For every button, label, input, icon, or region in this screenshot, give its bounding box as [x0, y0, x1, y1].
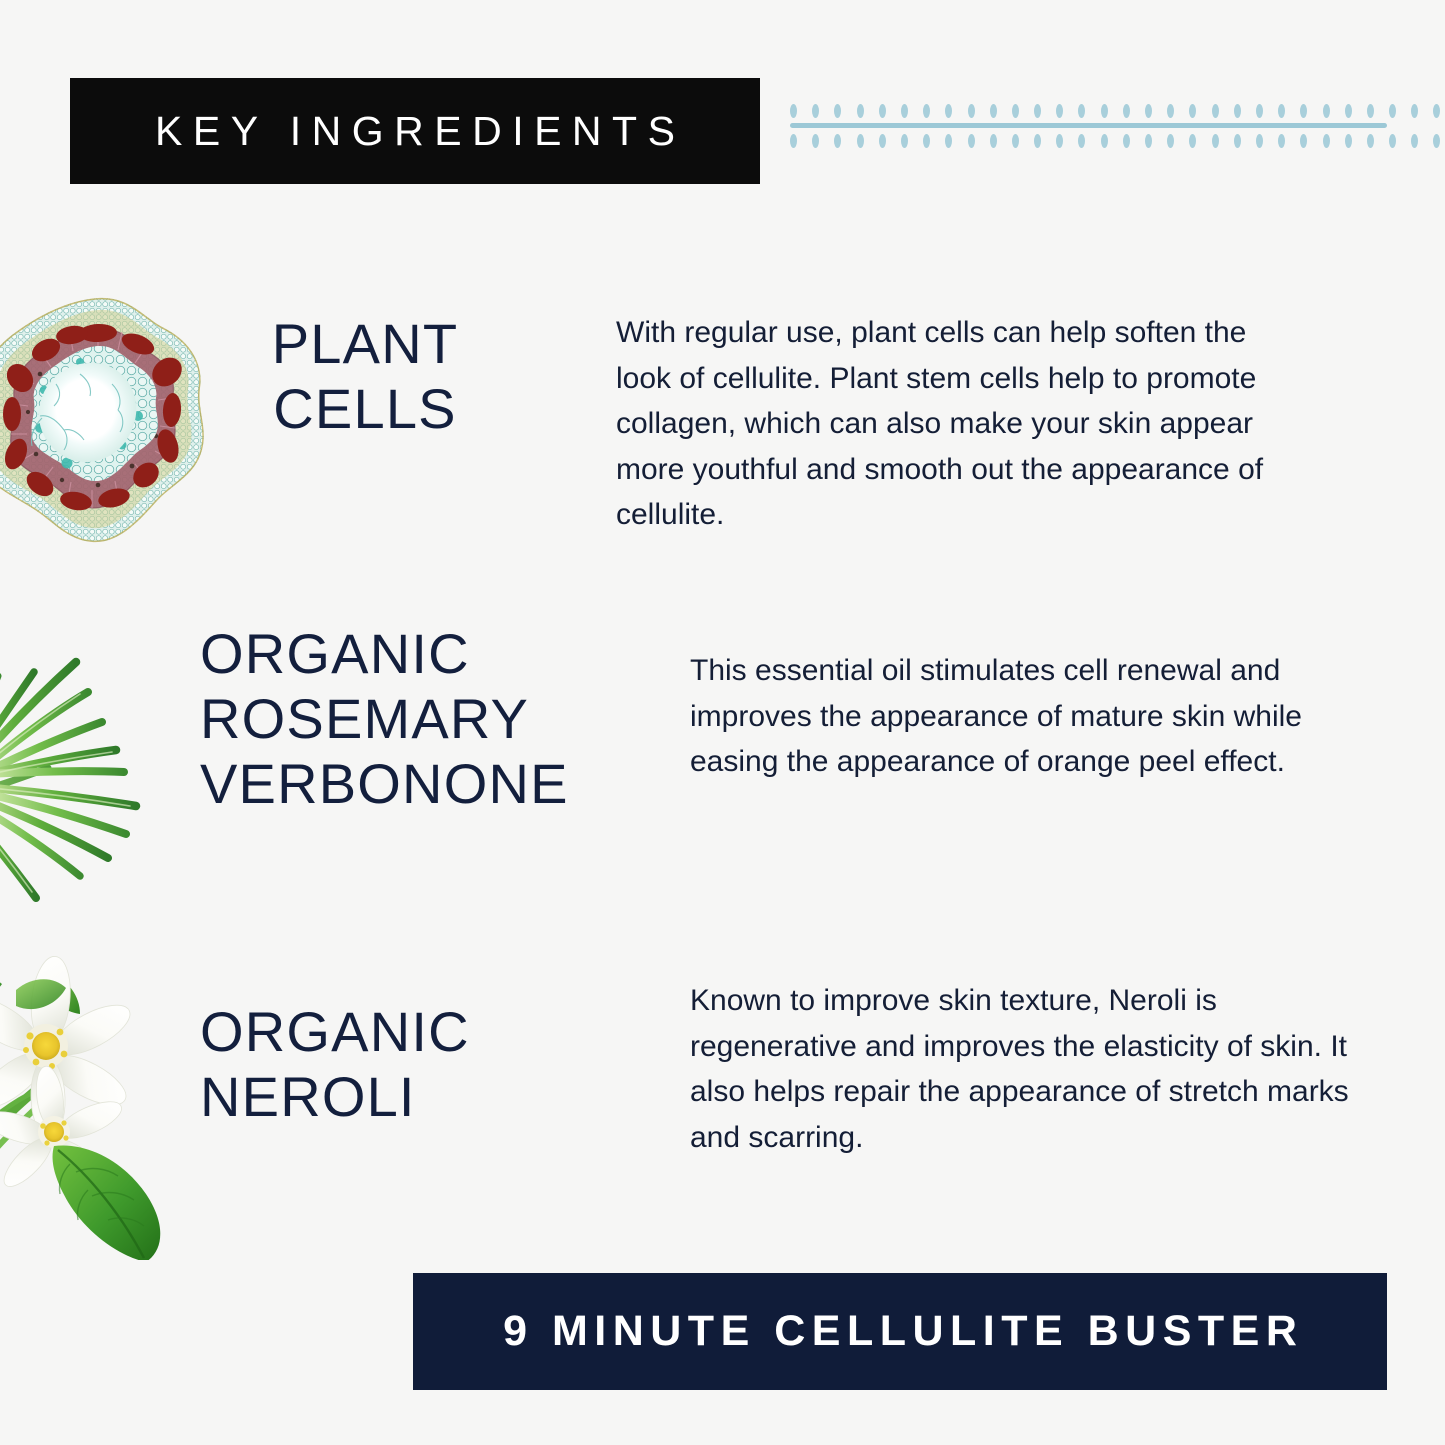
- decorative-dot: [1367, 134, 1374, 148]
- decorative-dot: [790, 104, 797, 118]
- decorative-dot: [1345, 134, 1352, 148]
- ingredient-title-line: PLANT: [272, 312, 459, 375]
- infographic-page: KEY INGREDIENTS: [0, 0, 1445, 1445]
- decorative-dot: [1056, 104, 1063, 118]
- decorative-dot: [901, 104, 908, 118]
- decorative-dot: [1167, 134, 1174, 148]
- ingredient-description-rosemary: This essential oil stimulates cell renew…: [690, 648, 1340, 785]
- decorative-dot: [1145, 134, 1152, 148]
- decorative-dot: [1078, 134, 1085, 148]
- decorative-dot: [1234, 104, 1241, 118]
- page-title: KEY INGREDIENTS: [145, 111, 686, 152]
- ingredient-row-rosemary: ORGANIC ROSEMARY VERBONONE This essentia…: [0, 600, 1445, 940]
- decorative-dot: [945, 104, 952, 118]
- decorative-dot: [1012, 104, 1019, 118]
- decorative-dot: [1433, 104, 1440, 118]
- decorative-dot: [1278, 134, 1285, 148]
- decorative-dot: [1234, 134, 1241, 148]
- decorative-dot: [1433, 134, 1440, 148]
- rule-line: [790, 123, 1387, 128]
- decorative-dot: [1101, 104, 1108, 118]
- decorative-dot: [1389, 104, 1396, 118]
- product-name: 9 MINUTE CELLULITE BUSTER: [497, 1310, 1304, 1353]
- decorative-dot: [1389, 134, 1396, 148]
- decorative-dot: [945, 134, 952, 148]
- decorative-dot: [1323, 104, 1330, 118]
- decorative-dot: [1256, 104, 1263, 118]
- ingredient-row-neroli: ORGANIC NEROLI Known to improve skin tex…: [0, 950, 1445, 1260]
- decorative-dot: [923, 134, 930, 148]
- decorative-dot: [1012, 134, 1019, 148]
- decorative-dot: [812, 104, 819, 118]
- rosemary-sprig-image: [0, 610, 220, 930]
- header-band: KEY INGREDIENTS: [0, 0, 1445, 240]
- decorative-dot: [1300, 134, 1307, 148]
- decorative-dot: [834, 104, 841, 118]
- ingredient-description-plant-cells: With regular use, plant cells can help s…: [616, 310, 1306, 538]
- decorative-dot: [990, 134, 997, 148]
- plant-cell-cross-section-image: [0, 288, 222, 553]
- ingredient-title-plant-cells: PLANT CELLS: [200, 312, 530, 442]
- decorative-dot: [1411, 134, 1418, 148]
- key-ingredients-header-box: KEY INGREDIENTS: [70, 78, 760, 184]
- decorative-dot: [834, 134, 841, 148]
- decorative-dot: [812, 134, 819, 148]
- decorative-dot: [1123, 134, 1130, 148]
- decorative-dot: [968, 134, 975, 148]
- decorative-dot: [1212, 134, 1219, 148]
- ingredient-title-line: VERBONONE: [200, 752, 569, 815]
- decorative-dot: [1345, 104, 1352, 118]
- decorative-dot: [1034, 104, 1041, 118]
- decorative-dot: [879, 134, 886, 148]
- ingredient-row-plant-cells: PLANT CELLS With regular use, plant cell…: [0, 270, 1445, 570]
- ingredient-title-rosemary: ORGANIC ROSEMARY VERBONONE: [200, 622, 660, 817]
- decorative-dot: [923, 104, 930, 118]
- ingredient-title-neroli: ORGANIC NEROLI: [200, 1000, 660, 1130]
- dot-row-bottom: [790, 134, 1445, 150]
- decorative-dot: [1278, 104, 1285, 118]
- decorative-dot: [1034, 134, 1041, 148]
- decorative-dot: [1323, 134, 1330, 148]
- product-name-banner: 9 MINUTE CELLULITE BUSTER: [413, 1273, 1387, 1390]
- neroli-blossom-image: [0, 950, 218, 1260]
- decorative-dot: [857, 134, 864, 148]
- decorative-dot: [1189, 104, 1196, 118]
- decorative-dot: [1123, 104, 1130, 118]
- decorative-dot: [857, 104, 864, 118]
- ingredient-title-line: ORGANIC: [200, 1000, 470, 1063]
- decorative-dot: [1212, 104, 1219, 118]
- decorative-dot: [879, 104, 886, 118]
- decorative-dot: [968, 104, 975, 118]
- decorative-dot: [1367, 104, 1374, 118]
- decorative-dot: [1056, 134, 1063, 148]
- ingredient-title-line: ROSEMARY: [200, 687, 529, 750]
- ingredient-title-line: NEROLI: [200, 1065, 416, 1128]
- decorative-dot: [1189, 134, 1196, 148]
- decorative-dot: [1411, 104, 1418, 118]
- decorative-dot: [1078, 104, 1085, 118]
- decorative-dot: [1167, 104, 1174, 118]
- dotted-rule-decoration: [790, 92, 1445, 160]
- decorative-dot: [790, 134, 797, 148]
- dot-row-top: [790, 104, 1445, 120]
- ingredient-title-line: CELLS: [273, 377, 456, 440]
- decorative-dot: [1256, 134, 1263, 148]
- ingredient-title-line: ORGANIC: [200, 622, 470, 685]
- decorative-dot: [990, 104, 997, 118]
- ingredient-description-neroli: Known to improve skin texture, Neroli is…: [690, 978, 1360, 1160]
- decorative-dot: [901, 134, 908, 148]
- decorative-dot: [1101, 134, 1108, 148]
- decorative-dot: [1300, 104, 1307, 118]
- decorative-dot: [1145, 104, 1152, 118]
